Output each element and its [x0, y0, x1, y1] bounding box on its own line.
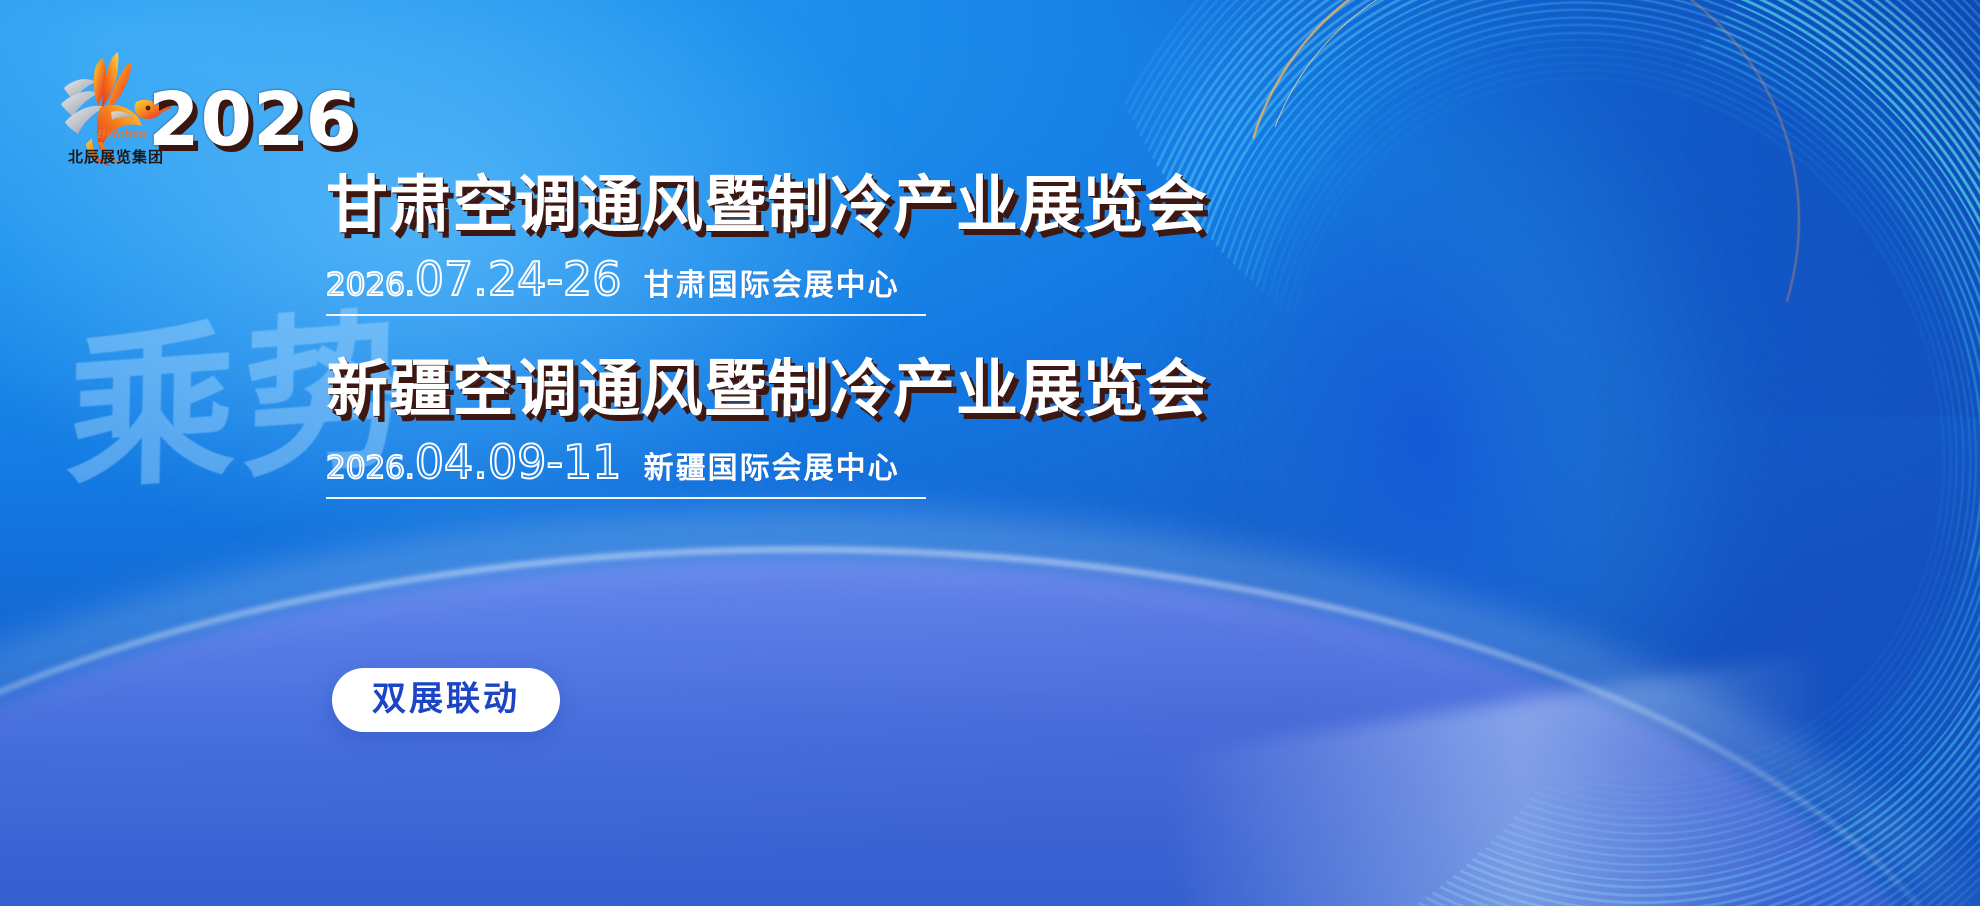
event-date-days: 04.09-11	[415, 435, 622, 489]
event-entry-gansu: 甘肃空调通风暨制冷产业展览会 2026. 07.24-26 甘肃国际会展中心	[326, 172, 1326, 316]
event-date: 2026. 04.09-11	[326, 435, 622, 489]
event-title: 甘肃空调通风暨制冷产业展览会	[326, 172, 1326, 238]
event-entry-xinjiang: 新疆空调通风暨制冷产业展览会 2026. 04.09-11 新疆国际会展中心	[326, 356, 1326, 500]
event-title: 新疆空调通风暨制冷产业展览会	[326, 356, 1326, 422]
dual-expo-badge[interactable]: 双展联动	[332, 668, 560, 732]
events-block: 甘肃空调通风暨制冷产业展览会 2026. 07.24-26 甘肃国际会展中心 新…	[326, 172, 1326, 499]
year-badge: 2026	[148, 83, 358, 157]
exhibition-banner: 乘势	[0, 0, 1980, 906]
event-date-year: 2026.	[326, 267, 415, 303]
event-meta-row: 2026. 07.24-26 甘肃国际会展中心	[326, 252, 926, 316]
dual-expo-badge-label: 双展联动	[372, 679, 520, 719]
event-date-year: 2026.	[326, 450, 415, 486]
events-spacer	[326, 316, 1326, 356]
event-meta-row: 2026. 04.09-11 新疆国际会展中心	[326, 435, 926, 499]
event-date: 2026. 07.24-26	[326, 252, 622, 306]
event-venue: 甘肃国际会展中心	[644, 260, 900, 304]
event-venue: 新疆国际会展中心	[644, 443, 900, 487]
event-date-days: 07.24-26	[415, 252, 622, 306]
